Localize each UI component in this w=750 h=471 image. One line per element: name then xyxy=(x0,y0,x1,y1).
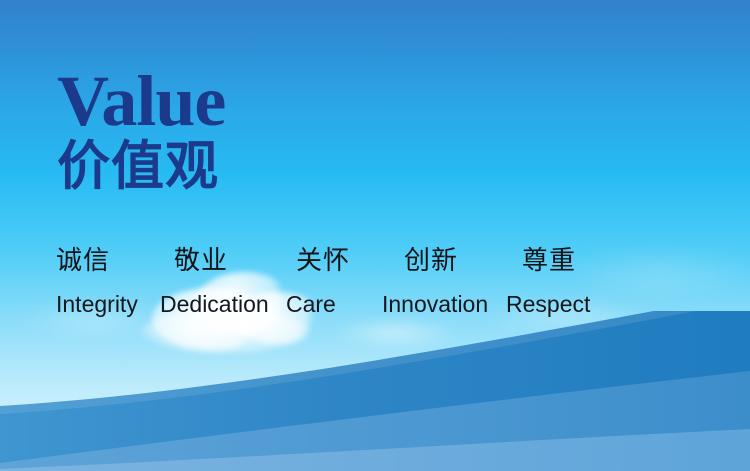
headline-english: Value xyxy=(57,68,225,134)
value-item-chinese: 诚信 xyxy=(56,240,174,277)
headline-block: Value 价值观 xyxy=(57,68,225,193)
value-item-chinese: 敬业 xyxy=(174,240,296,277)
values-row-english: Integrity Dedication Care Innovation Res… xyxy=(56,291,616,318)
value-item-english: Innovation xyxy=(382,291,506,318)
wave-shapes-icon xyxy=(0,311,750,471)
value-item-chinese: 尊重 xyxy=(522,240,576,277)
wave-decoration xyxy=(0,311,750,471)
value-item-english: Integrity xyxy=(56,291,160,318)
values-list: 诚信 敬业 关怀 创新 尊重 Integrity Dedication Care… xyxy=(56,240,616,318)
value-item-english: Dedication xyxy=(160,291,286,318)
value-item-english: Respect xyxy=(506,291,590,318)
values-row-chinese: 诚信 敬业 关怀 创新 尊重 xyxy=(56,240,616,277)
value-item-english: Care xyxy=(286,291,382,318)
headline-chinese: 价值观 xyxy=(57,140,225,193)
value-banner: Value 价值观 诚信 敬业 关怀 创新 尊重 Integrity Dedic… xyxy=(0,0,750,471)
value-item-chinese: 关怀 xyxy=(296,240,404,277)
value-item-chinese: 创新 xyxy=(404,240,522,277)
